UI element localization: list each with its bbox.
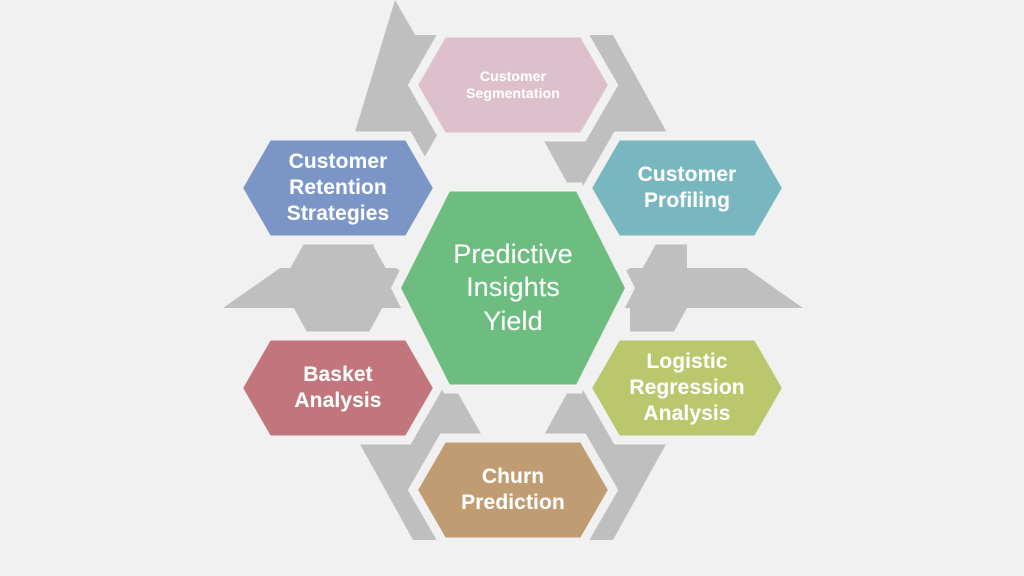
hexagon-customer-retention-strategies[interactable] (238, 136, 438, 240)
hexagon-churn-prediction[interactable] (413, 438, 613, 542)
hexagon-customer-segmentation[interactable] (413, 33, 613, 137)
hexagon-canvas (0, 0, 1024, 576)
hexagon-basket-analysis[interactable] (238, 336, 438, 440)
hexagon-predictive-insights-yield[interactable] (396, 187, 630, 389)
hexagon-customer-profiling[interactable] (587, 136, 787, 240)
hexagon-logistic-regression-analysis[interactable] (587, 336, 787, 440)
hexagon-diagram: Customer Segmentation Customer Profiling… (0, 0, 1024, 576)
